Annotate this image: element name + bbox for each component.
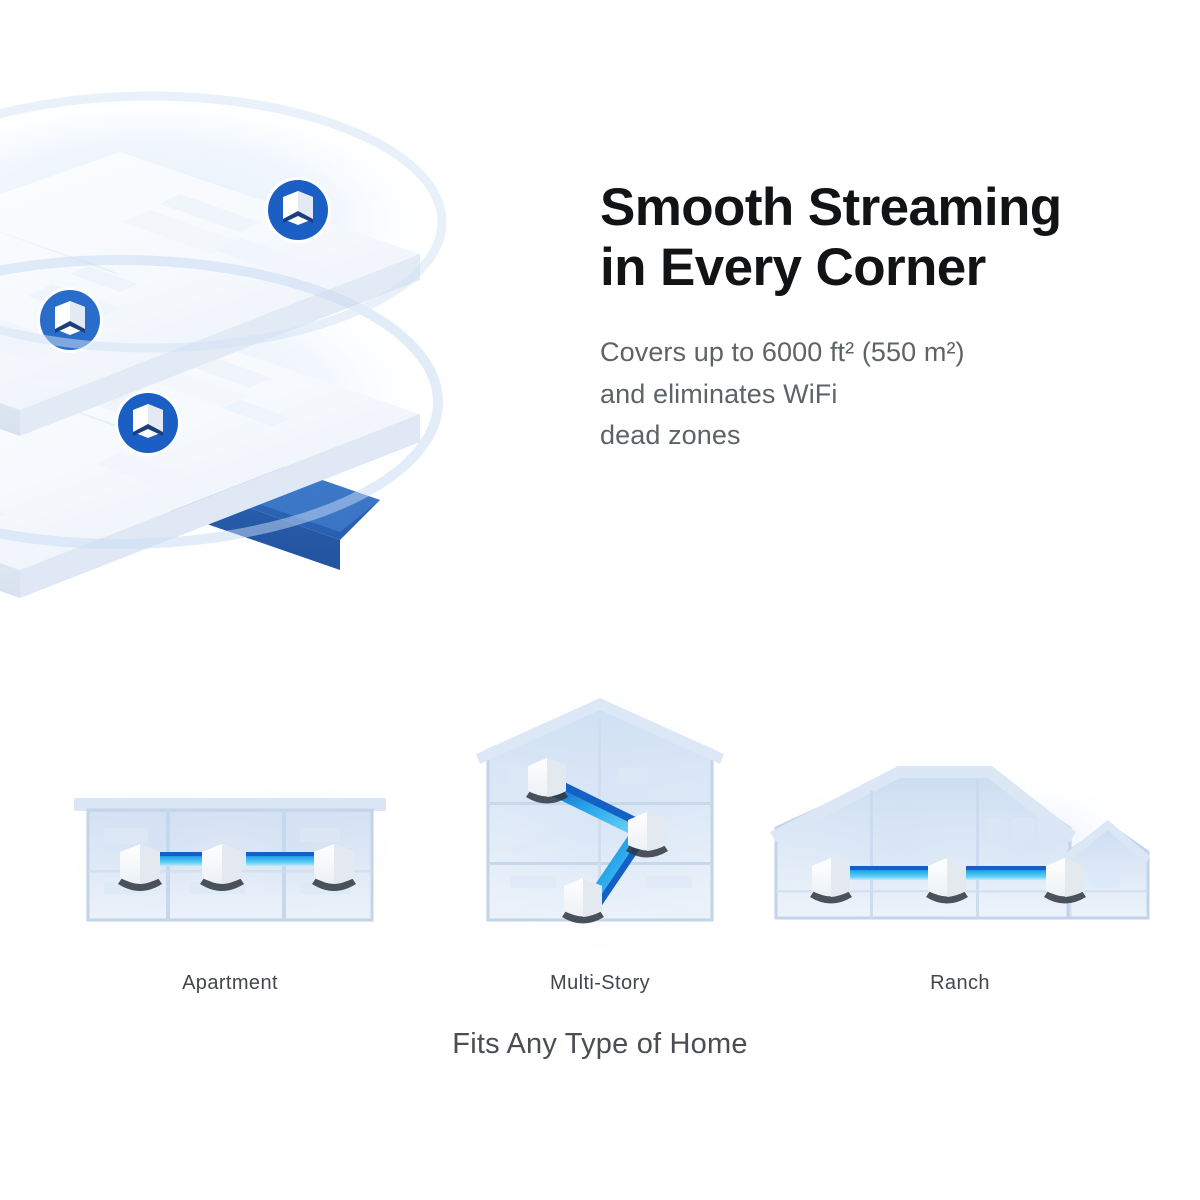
apartment-building-icon	[50, 732, 410, 962]
home-type-apartment: Apartment	[40, 655, 420, 995]
mesh-unit	[626, 812, 668, 858]
mesh-node-marker	[115, 390, 181, 456]
marketing-hero-page: Smooth Streaming in Every Corner Covers …	[0, 0, 1200, 1200]
home-type-ranch: Ranch	[760, 655, 1160, 995]
mesh-unit	[200, 844, 244, 891]
mesh-unit	[118, 844, 162, 891]
mesh-unit	[1044, 858, 1086, 904]
home-type-multistory: Multi-Story	[410, 655, 790, 995]
home-type-label: Ranch	[930, 972, 990, 995]
mesh-unit	[312, 844, 356, 891]
mesh-cube-icon	[133, 404, 163, 438]
mesh-node-marker	[265, 177, 331, 243]
mesh-unit	[810, 858, 852, 904]
ranch-house-icon	[770, 732, 1150, 962]
multistory-house-icon	[450, 672, 750, 962]
mesh-cube-icon	[55, 301, 85, 335]
home-types-row: Apartment	[0, 655, 1200, 995]
home-types-footnote: Fits Any Type of Home	[0, 1028, 1200, 1061]
home-type-label: Apartment	[182, 972, 278, 995]
hero-subcopy: Covers up to 6000 ft² (550 m²) and elimi…	[600, 332, 1160, 458]
page-title: Smooth Streaming in Every Corner	[600, 178, 1160, 298]
isometric-floorplan-illustration	[0, 70, 600, 670]
mesh-cube-icon	[283, 191, 313, 225]
mesh-unit	[562, 878, 604, 924]
home-type-label: Multi-Story	[550, 972, 650, 995]
mesh-unit	[926, 858, 968, 904]
mesh-unit	[526, 758, 568, 804]
hero-copy-block: Smooth Streaming in Every Corner Covers …	[600, 178, 1160, 457]
